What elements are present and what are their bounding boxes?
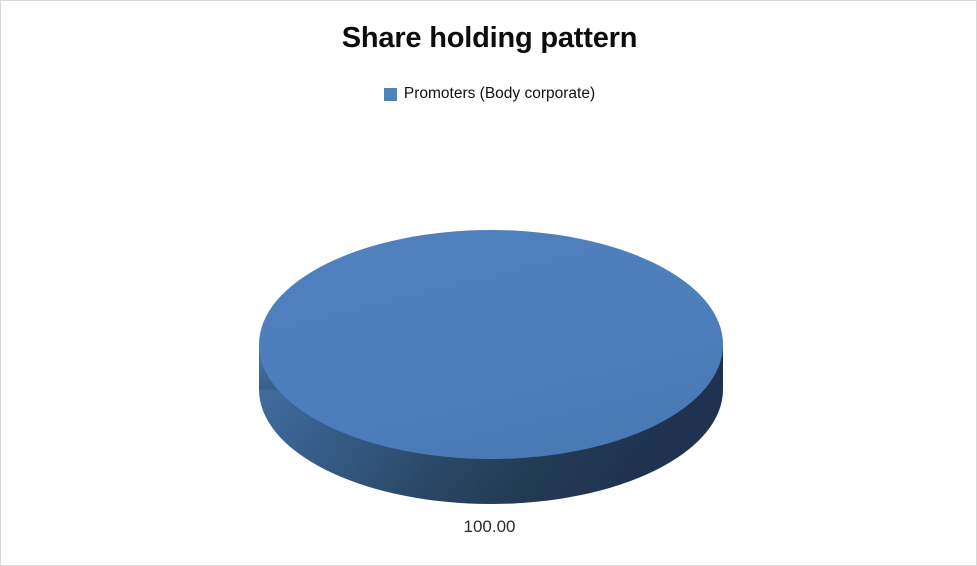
pie-slice-promoters-top[interactable]	[259, 230, 723, 459]
pie-chart-graphic	[1, 1, 977, 566]
pie-data-label: 100.00	[1, 516, 977, 538]
pie-plot-area: 100.00	[1, 1, 977, 566]
chart-canvas: Share holding pattern Promoters (Body co…	[0, 0, 977, 566]
